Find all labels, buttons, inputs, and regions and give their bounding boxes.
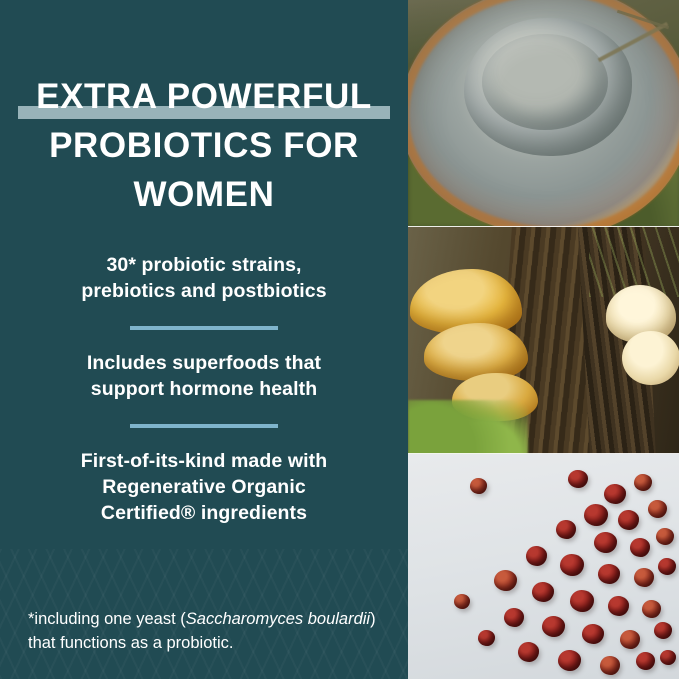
berry	[604, 484, 626, 504]
berry	[642, 600, 661, 618]
berry	[584, 504, 608, 526]
berry	[648, 500, 667, 518]
berry	[470, 478, 487, 494]
headline-line-1: EXTRA POWERFUL	[0, 72, 408, 121]
berry	[620, 630, 640, 649]
berry	[560, 554, 584, 576]
feature-item-1-line-2: prebiotics and postbiotics	[24, 278, 384, 304]
footnote-italic: Saccharomyces boulardii	[186, 610, 370, 628]
berry	[630, 538, 650, 557]
divider-2	[130, 424, 278, 428]
berry	[556, 520, 576, 539]
footnote: *including one yeast (Saccharomyces boul…	[28, 607, 384, 655]
shelf-fungi-photo	[408, 227, 679, 454]
feature-item-3-line-2: Regenerative Organic	[24, 474, 384, 500]
berry	[568, 470, 588, 488]
berry	[454, 594, 470, 609]
feature-item-1: 30* probiotic strains, prebiotics and po…	[24, 252, 384, 304]
berry	[518, 642, 539, 662]
berry	[558, 650, 581, 671]
berry	[634, 474, 652, 491]
berry	[594, 532, 617, 553]
green-foliage	[408, 400, 528, 454]
pale-fungus-lower-right	[622, 331, 679, 385]
feature-item-3-line-3: Certified® ingredients	[24, 500, 384, 526]
product-infographic: EXTRA POWERFUL PROBIOTICS FOR WOMEN 30* …	[0, 0, 679, 679]
berry	[478, 630, 495, 646]
berry	[504, 608, 524, 627]
feature-item-2-line-2: support hormone health	[24, 376, 384, 402]
berry	[582, 624, 604, 644]
photo-column	[408, 0, 679, 679]
footnote-prefix: *including one yeast (	[28, 610, 186, 628]
reishi-mushroom-photo	[408, 0, 679, 227]
berry	[608, 596, 629, 616]
feature-item-3-line-1: First-of-its-kind made with	[24, 448, 384, 474]
berry	[654, 622, 672, 639]
berry	[526, 546, 547, 566]
berry	[636, 652, 655, 670]
text-panel: EXTRA POWERFUL PROBIOTICS FOR WOMEN 30* …	[0, 0, 408, 679]
headline-line-2: PROBIOTICS FOR	[0, 121, 408, 170]
feature-item-2: Includes superfoods that support hormone…	[24, 350, 384, 402]
berry	[494, 570, 517, 591]
berry	[634, 568, 654, 587]
dried-berries-photo	[408, 454, 679, 679]
berry	[660, 650, 676, 665]
divider-1	[130, 326, 278, 330]
feature-item-1-line-1: 30* probiotic strains,	[24, 252, 384, 278]
berry	[542, 616, 565, 637]
berry	[618, 510, 639, 530]
page-title: EXTRA POWERFUL PROBIOTICS FOR WOMEN	[0, 72, 408, 219]
headline-line-3: WOMEN	[0, 170, 408, 219]
berry	[600, 656, 620, 675]
feature-item-2-line-1: Includes superfoods that	[24, 350, 384, 376]
berry	[598, 564, 620, 584]
berry	[570, 590, 594, 612]
shelf-fungus-middle	[424, 323, 528, 381]
berry	[532, 582, 554, 602]
berry	[656, 528, 674, 545]
feature-item-3: First-of-its-kind made with Regenerative…	[24, 448, 384, 526]
feature-list: 30* probiotic strains, prebiotics and po…	[24, 252, 384, 526]
berry	[658, 558, 676, 575]
mushroom-orange-rim	[408, 0, 679, 227]
